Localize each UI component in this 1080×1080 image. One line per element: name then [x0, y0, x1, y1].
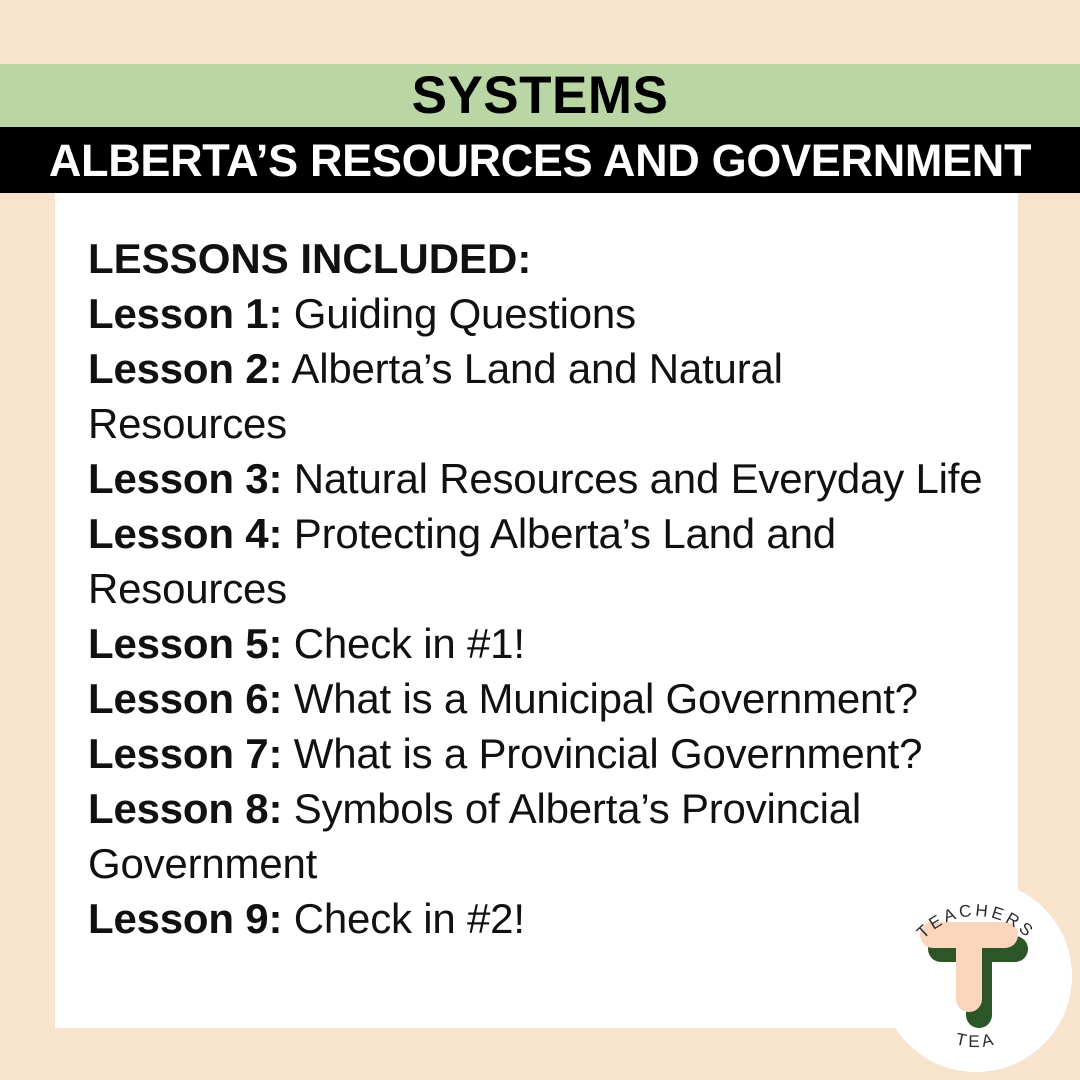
category-banner: SYSTEMS: [0, 64, 1080, 127]
lesson-text: Check in #1!: [294, 620, 525, 667]
list-item: Lesson 8: Symbols of Alberta’s Provincia…: [88, 781, 998, 836]
lessons-list: LESSONS INCLUDED: Lesson 1: Guiding Ques…: [88, 231, 998, 946]
category-title: SYSTEMS: [412, 69, 669, 122]
lesson-text: What is a Municipal Government?: [294, 675, 918, 722]
lesson-label: Lesson 7:: [88, 730, 282, 777]
list-item: Lesson 4: Protecting Alberta’s Land and: [88, 506, 998, 561]
list-item: Lesson 6: What is a Municipal Government…: [88, 671, 998, 726]
lesson-text: Natural Resources and Everyday Life: [294, 455, 983, 502]
logo-bottom-text: TEA: [954, 1029, 998, 1051]
brand-logo: TEACHERS TEA: [880, 880, 1072, 1072]
title-banner: ALBERTA’S RESOURCES AND GOVERNMENT: [0, 127, 1080, 193]
lesson-label: Lesson 4:: [88, 510, 282, 557]
lesson-text: Alberta’s Land and Natural: [291, 345, 782, 392]
lesson-label: Lesson 3:: [88, 455, 282, 502]
lesson-text: What is a Provincial Government?: [294, 730, 923, 777]
lesson-text: Protecting Alberta’s Land and: [294, 510, 836, 557]
list-item: Lesson 3: Natural Resources and Everyday…: [88, 451, 998, 506]
list-item: Lesson 7: What is a Provincial Governmen…: [88, 726, 998, 781]
list-item: Lesson 5: Check in #1!: [88, 616, 998, 671]
unit-title: ALBERTA’S RESOURCES AND GOVERNMENT: [49, 138, 1031, 183]
lesson-text: Guiding Questions: [294, 290, 636, 337]
lessons-included-heading: LESSONS INCLUDED:: [88, 231, 998, 286]
lesson-label: Lesson 2:: [88, 345, 282, 392]
poster-canvas: SYSTEMS ALBERTA’S RESOURCES AND GOVERNME…: [0, 0, 1080, 1080]
lesson-text: Check in #2!: [294, 895, 525, 942]
lesson-label: Lesson 1:: [88, 290, 282, 337]
content-card: LESSONS INCLUDED: Lesson 1: Guiding Ques…: [55, 193, 1018, 1028]
lesson-label: Lesson 5:: [88, 620, 282, 667]
logo-artwork: TEACHERS TEA: [880, 880, 1072, 1072]
list-item: Lesson 2: Alberta’s Land and Natural: [88, 341, 998, 396]
lesson-text: Symbols of Alberta’s Provincial: [294, 785, 861, 832]
lesson-text-continuation: Government: [88, 836, 998, 891]
lesson-label: Lesson 8:: [88, 785, 282, 832]
lesson-text-continuation: Resources: [88, 396, 998, 451]
lesson-label: Lesson 9:: [88, 895, 282, 942]
logo-monogram-peach: [920, 922, 1018, 1012]
list-item: Lesson 1: Guiding Questions: [88, 286, 998, 341]
lesson-label: Lesson 6:: [88, 675, 282, 722]
list-item: Lesson 9: Check in #2!: [88, 891, 998, 946]
lesson-text-continuation: Resources: [88, 561, 998, 616]
